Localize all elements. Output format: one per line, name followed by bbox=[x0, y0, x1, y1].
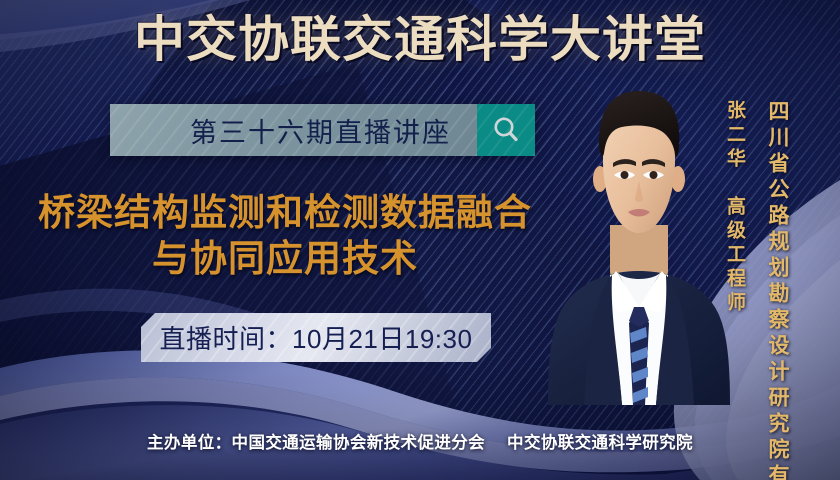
footer-organizer-1: 中国交通运输协会新技术促进分会 bbox=[232, 434, 486, 452]
speaker-organization: 四川省公路规划勘察设计研究院有限公司 bbox=[762, 100, 792, 480]
speaker-name-title: 张二华 高级工程师 bbox=[721, 100, 748, 316]
speaker-portrait bbox=[548, 75, 730, 405]
series-label: 第三十六期直播讲座 bbox=[190, 111, 451, 150]
schedule-label: 直播时间：10月21日19:30 bbox=[160, 319, 473, 356]
series-search-bar[interactable]: 第三十六期直播讲座 bbox=[110, 104, 535, 156]
footer-organizers: 主办单位：中国交通运输协会新技术促进分会中交协联交通科学研究院 bbox=[0, 429, 840, 453]
search-icon bbox=[491, 115, 521, 145]
series-label-field[interactable]: 第三十六期直播讲座 bbox=[110, 104, 477, 156]
search-button[interactable] bbox=[477, 104, 535, 156]
lecture-topic-line2: 与协同应用技术 bbox=[20, 236, 550, 282]
lecture-topic: 桥梁结构监测和检测数据融合 与协同应用技术 bbox=[20, 190, 550, 281]
footer-prefix: 主办单位： bbox=[147, 434, 232, 452]
webinar-poster: 中交协联交通科学大讲堂 第三十六期直播讲座 桥梁结构监测和检测数据融合 与协同应… bbox=[0, 0, 840, 480]
lecture-topic-line1: 桥梁结构监测和检测数据融合 bbox=[38, 192, 532, 233]
schedule-banner: 直播时间：10月21日19:30 bbox=[141, 313, 491, 362]
footer-organizer-2: 中交协联交通科学研究院 bbox=[507, 434, 693, 452]
page-title: 中交协联交通科学大讲堂 bbox=[0, 16, 840, 65]
